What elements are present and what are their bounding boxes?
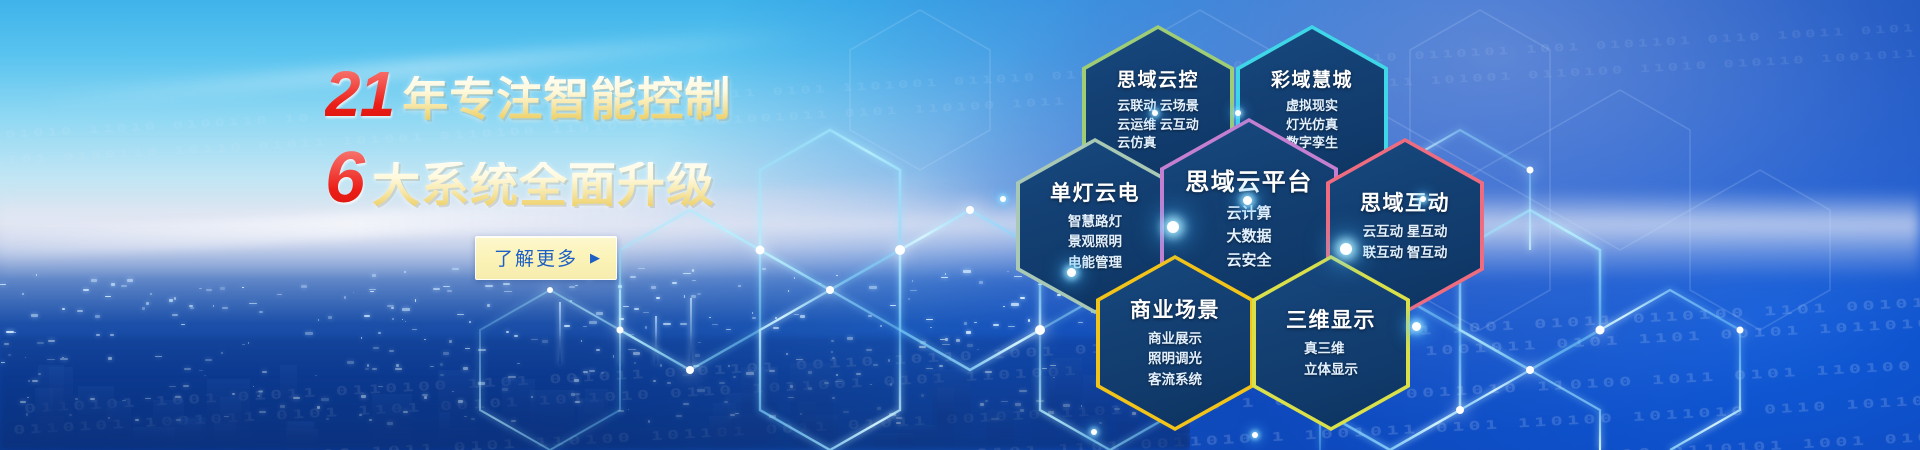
hexagon-subtitle: 照明调光 [1148, 349, 1202, 369]
network-node [1235, 110, 1241, 116]
hexagon-title: 单灯云电 [1050, 177, 1140, 207]
hexagon-subtitle: 云联动 云场景 [1117, 97, 1199, 116]
hexagon-subtitle: 大数据 [1226, 225, 1271, 248]
network-node [1252, 432, 1258, 438]
hexagon-subtitle: 商业展示 [1148, 329, 1202, 349]
network-node [1340, 243, 1352, 255]
hexagon-body: 三维显示真三维立体显示 [1256, 259, 1406, 427]
hexagon-subtitle: 景观照明 [1068, 232, 1122, 252]
hexagon-title: 彩域慧城 [1271, 65, 1353, 92]
hexagon-subtitle: 智慧路灯 [1068, 212, 1122, 232]
network-node [1243, 196, 1252, 205]
network-node [1152, 110, 1158, 116]
network-node [1412, 322, 1421, 331]
hexagon-subtitle: 云计算 [1226, 202, 1271, 225]
hexagon-subtitle-list: 真三维立体显示 [1304, 339, 1358, 380]
hexagon-subtitle: 虚拟现实 [1286, 97, 1338, 116]
hexagon-title: 思域互动 [1360, 187, 1450, 217]
hexagon-subtitle: 云互动 星互动 [1363, 222, 1448, 242]
hexagon-subtitle-list: 商业展示照明调光客流系统 [1148, 329, 1202, 390]
hexagon-title: 思域云控 [1117, 65, 1199, 92]
hexagon-subtitle: 客流系统 [1148, 370, 1202, 390]
hexagon-title: 商业场景 [1130, 294, 1220, 324]
network-node [1000, 196, 1006, 202]
network-node [1420, 196, 1426, 202]
hexagon-subtitle: 立体显示 [1304, 360, 1358, 380]
network-node [1067, 268, 1076, 277]
hexagon-card-sanwei-xianshi[interactable]: 三维显示真三维立体显示 [1252, 255, 1410, 431]
hexagon-card-shangye-changjing[interactable]: 商业场景商业展示照明调光客流系统 [1096, 255, 1254, 431]
hexagon-subtitle: 真三维 [1304, 339, 1358, 359]
hexagon-title: 思域云平台 [1185, 162, 1313, 197]
hexagon-title: 三维显示 [1286, 304, 1376, 334]
hexagon-body: 商业场景商业展示照明调光客流系统 [1100, 259, 1250, 427]
promo-banner: 01001010 11010 0100110 10 0110101 1001 0… [0, 0, 1920, 450]
network-node [1167, 221, 1179, 233]
solution-hexagon-cluster: 思域云控云联动 云场景云运维 云互动云仿真彩域慧城虚拟现实灯光仿真数字孪生单灯云… [0, 0, 1920, 450]
network-node [1091, 429, 1097, 435]
